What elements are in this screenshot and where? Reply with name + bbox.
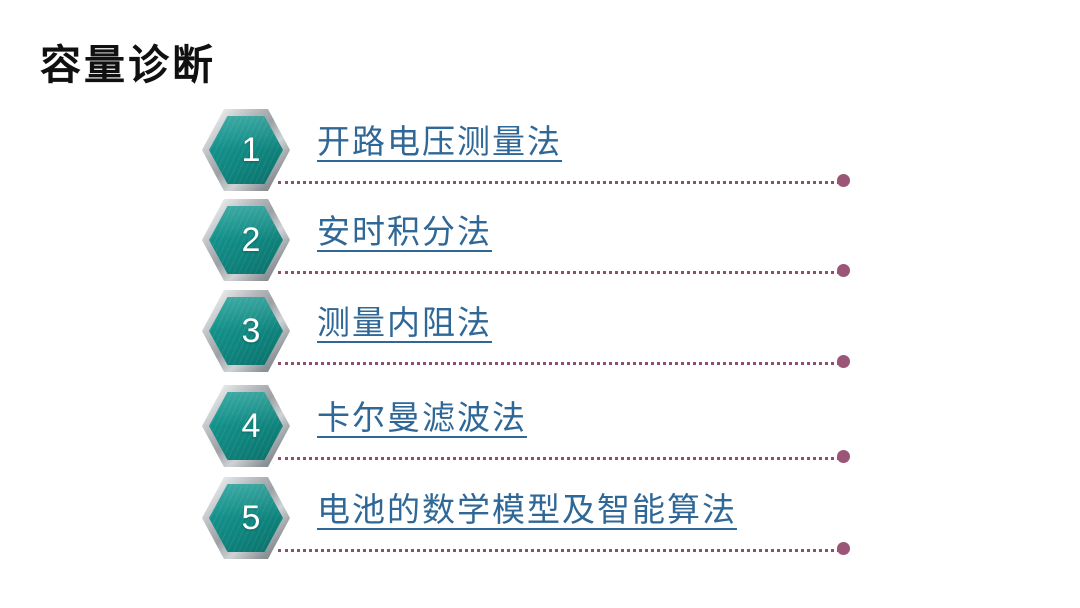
- connector-end-dot: [837, 264, 850, 277]
- hexagon-badge-1[interactable]: 1: [202, 109, 290, 191]
- item-label-4[interactable]: 卡尔曼滤波法: [317, 391, 527, 439]
- list-item[interactable]: 2 安时积分法: [0, 195, 1080, 285]
- hexagon-number: 4: [202, 385, 290, 467]
- list-item[interactable]: 4 卡尔曼滤波法: [0, 381, 1080, 471]
- list-item[interactable]: 5 电池的数学模型及智能算法: [0, 473, 1080, 563]
- hexagon-badge-5[interactable]: 5: [202, 477, 290, 559]
- item-label-1[interactable]: 开路电压测量法: [317, 115, 562, 163]
- hexagon-number: 3: [202, 290, 290, 372]
- hexagon-number: 1: [202, 109, 290, 191]
- connector-end-dot: [837, 542, 850, 555]
- item-label-5[interactable]: 电池的数学模型及智能算法: [317, 483, 737, 531]
- connector-line: [278, 549, 840, 552]
- connector-end-dot: [837, 450, 850, 463]
- list-item[interactable]: 3 测量内阻法: [0, 286, 1080, 376]
- item-label-2[interactable]: 安时积分法: [317, 205, 492, 253]
- hexagon-number: 2: [202, 199, 290, 281]
- hexagon-number: 5: [202, 477, 290, 559]
- connector-line: [278, 181, 840, 184]
- hexagon-badge-3[interactable]: 3: [202, 290, 290, 372]
- hexagon-badge-4[interactable]: 4: [202, 385, 290, 467]
- diagram-item-list: 1 开路电压测量法 2 安时积分法 3 测量内阻法: [0, 0, 1080, 608]
- hexagon-badge-2[interactable]: 2: [202, 199, 290, 281]
- connector-end-dot: [837, 355, 850, 368]
- connector-end-dot: [837, 174, 850, 187]
- list-item[interactable]: 1 开路电压测量法: [0, 105, 1080, 195]
- connector-line: [278, 362, 840, 365]
- item-label-3[interactable]: 测量内阻法: [317, 296, 492, 344]
- connector-line: [278, 271, 840, 274]
- connector-line: [278, 457, 840, 460]
